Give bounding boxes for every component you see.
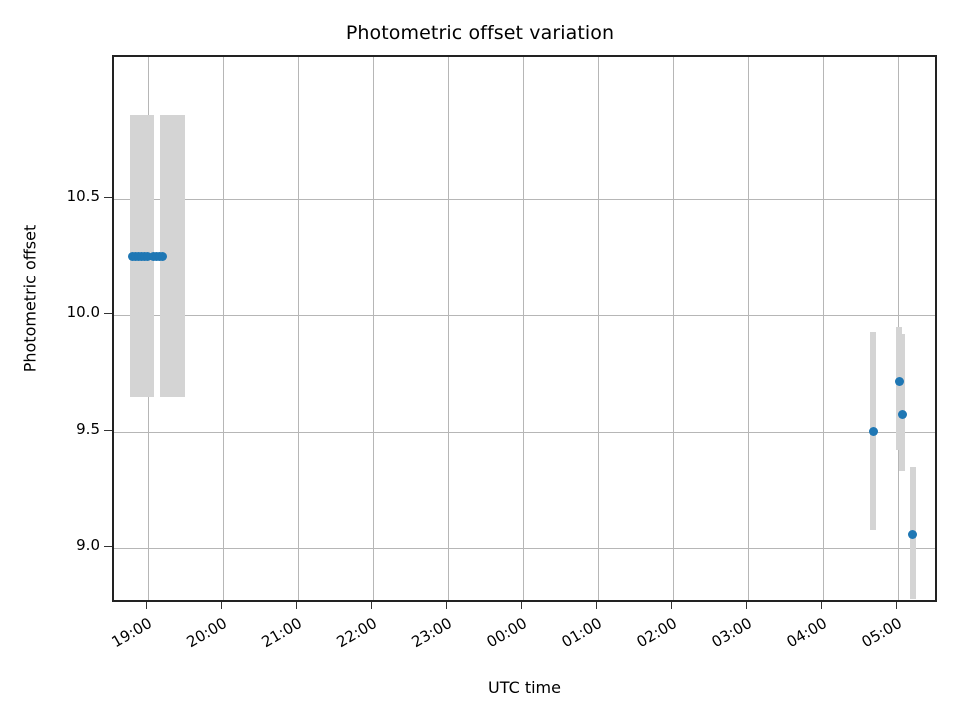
y-axis-tick-label: 9.5 [0,420,100,438]
data-point [898,410,907,419]
gridline-vertical [298,57,299,600]
x-axis-tick-label: 22:00 [319,614,380,660]
x-axis-tick-label: 05:00 [844,614,905,660]
x-axis-tick-label: 19:00 [94,614,155,660]
x-axis-tick [221,602,222,609]
gridline-horizontal [114,548,935,549]
plot-area [112,55,937,602]
y-axis-label: Photometric offset [21,179,40,419]
gridline-horizontal [114,432,935,433]
data-point [869,427,878,436]
y-axis-tick-label: 10.5 [0,187,100,205]
gridline-vertical [823,57,824,600]
x-axis-tick [371,602,372,609]
gridline-vertical [673,57,674,600]
y-axis-tick-label: 9.0 [0,536,100,554]
error-bar [899,334,905,471]
x-axis-tick [896,602,897,609]
gridline-vertical [523,57,524,600]
x-axis-tick-label: 04:00 [769,614,830,660]
y-axis-tick [104,430,112,431]
x-axis-tick [521,602,522,609]
gridline-vertical [223,57,224,600]
x-axis-tick-label: 21:00 [244,614,305,660]
chart-title: Photometric offset variation [0,22,960,44]
x-axis-label: UTC time [0,678,960,697]
gridline-vertical [373,57,374,600]
x-axis-tick-label: 02:00 [619,614,680,660]
y-axis-tick [104,546,112,547]
x-axis-tick [746,602,747,609]
data-point [908,530,917,539]
gridline-vertical [448,57,449,600]
gridline-horizontal [114,199,935,200]
x-axis-tick-label: 23:00 [394,614,455,660]
figure-canvas: Photometric offset variation 19:0020:002… [0,0,960,720]
data-point [158,252,167,261]
x-axis-tick [821,602,822,609]
x-axis-tick [296,602,297,609]
y-axis-tick-label: 10.0 [0,303,100,321]
x-axis-tick [596,602,597,609]
x-axis-tick [671,602,672,609]
gridline-vertical [598,57,599,600]
y-axis-tick [104,313,112,314]
data-point [895,377,904,386]
x-axis-tick-label: 00:00 [469,614,530,660]
x-axis-tick-label: 03:00 [694,614,755,660]
y-axis-tick [104,197,112,198]
x-axis-tick [146,602,147,609]
gridline-vertical [748,57,749,600]
x-axis-tick-label: 20:00 [169,614,230,660]
x-axis-tick [446,602,447,609]
x-axis-tick-label: 01:00 [544,614,605,660]
gridline-horizontal [114,315,935,316]
